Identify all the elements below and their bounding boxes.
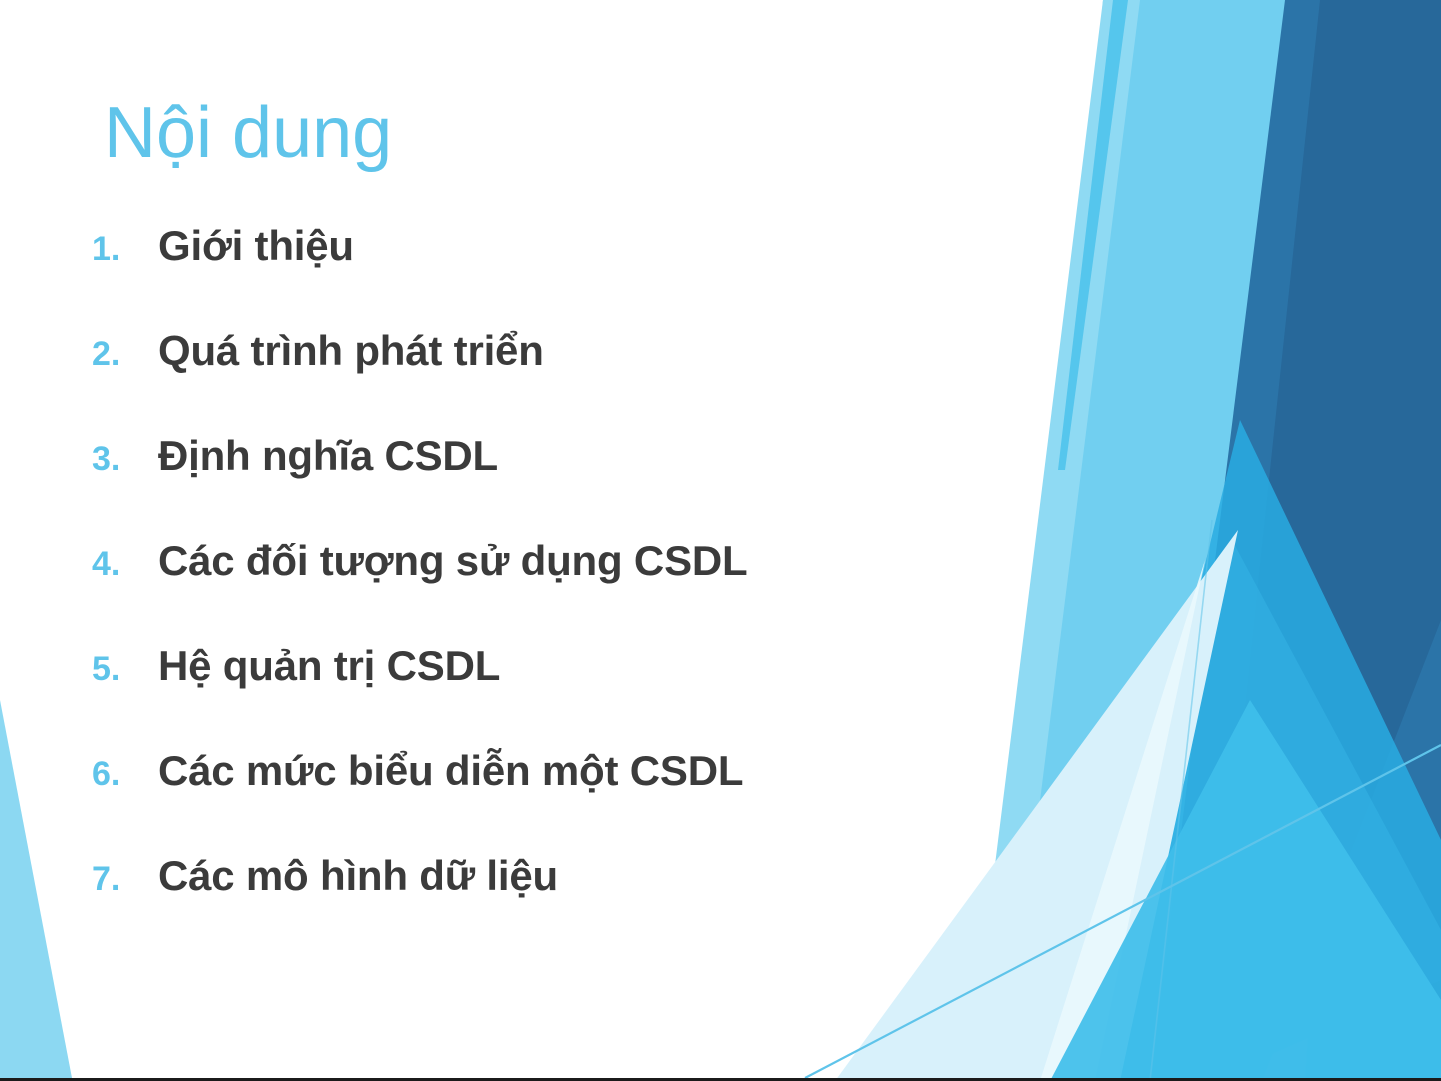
list-item-label: Định nghĩa CSDL	[158, 432, 498, 480]
list-item-number: 5.	[82, 650, 158, 689]
presentation-slide: Nội dung 1. Giới thiệu 2. Quá trình phát…	[0, 0, 1441, 1081]
deco-shape-left-wedge	[0, 700, 72, 1078]
list-item[interactable]: 6. Các mức biểu diễn một CSDL	[82, 747, 1062, 852]
list-item[interactable]: 5. Hệ quản trị CSDL	[82, 642, 1062, 747]
list-item-number: 3.	[82, 440, 158, 479]
list-item-number: 1.	[82, 230, 158, 269]
deco-shape-faint-sliver	[1040, 560, 1205, 1081]
hairline-vertical-right	[1150, 520, 1212, 1081]
list-item-number: 4.	[82, 545, 158, 584]
content-list: 1. Giới thiệu 2. Quá trình phát triển 3.…	[82, 222, 1062, 957]
list-item[interactable]: 4. Các đối tượng sử dụng CSDL	[82, 537, 1062, 642]
list-item-number: 7.	[82, 860, 158, 899]
list-item-label: Quá trình phát triển	[158, 327, 544, 375]
deco-shape-sky-pale	[1080, 420, 1441, 1081]
deco-shape-blue-mid	[1120, 0, 1441, 1081]
list-item[interactable]: 1. Giới thiệu	[82, 222, 1062, 327]
list-item-label: Các mức biểu diễn một CSDL	[158, 747, 743, 795]
deco-shape-top-sliver	[1058, 0, 1128, 470]
list-item[interactable]: 7. Các mô hình dữ liệu	[82, 852, 1062, 957]
list-item-label: Các đối tượng sử dụng CSDL	[158, 537, 747, 585]
page-title: Nội dung	[104, 96, 392, 172]
list-item-label: Các mô hình dữ liệu	[158, 852, 558, 900]
list-item-number: 6.	[82, 755, 158, 794]
deco-shape-sky-faint	[1045, 540, 1441, 1081]
deco-shape-dark-right	[1305, 0, 1441, 1081]
deco-shape-cyan-lower	[1050, 700, 1441, 1081]
list-item[interactable]: 2. Quá trình phát triển	[82, 327, 1062, 432]
list-item[interactable]: 3. Định nghĩa CSDL	[82, 432, 1062, 537]
list-item-label: Giới thiệu	[158, 222, 354, 270]
deco-shape-blue-deep	[1205, 0, 1441, 1081]
list-item-label: Hệ quản trị CSDL	[158, 642, 500, 690]
list-item-number: 2.	[82, 335, 158, 374]
